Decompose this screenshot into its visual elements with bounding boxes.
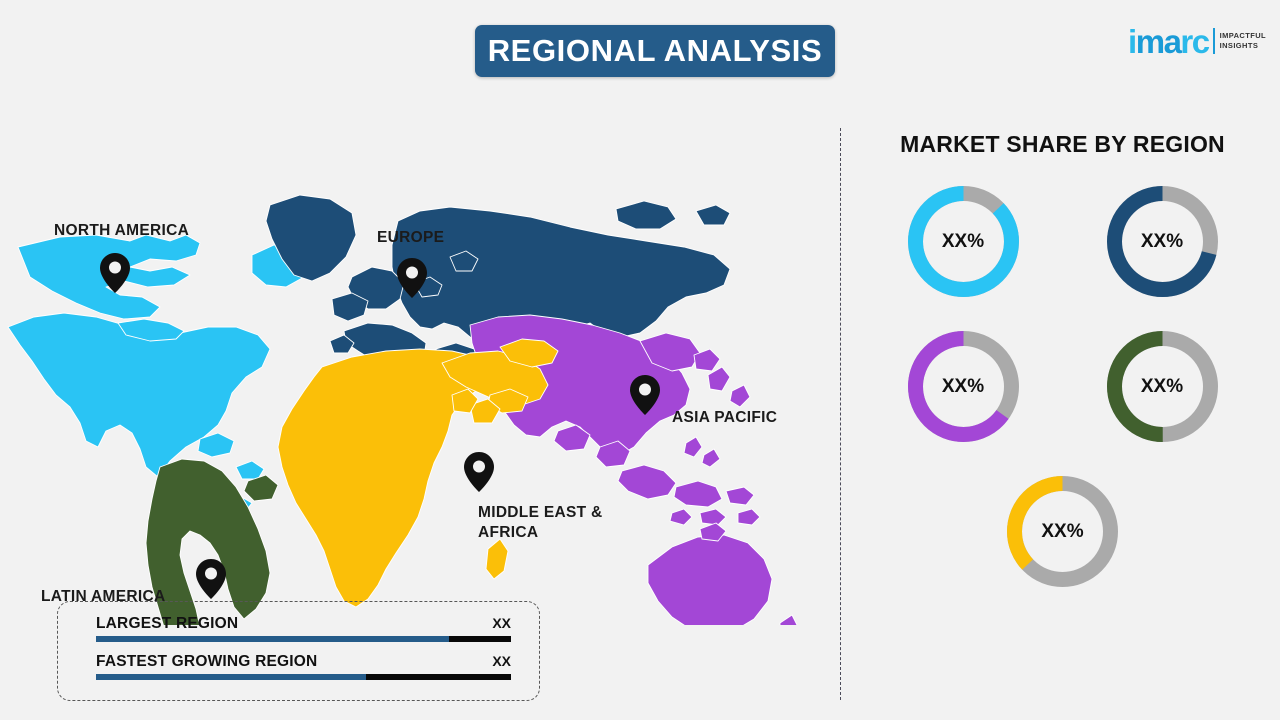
logo-letter-m: m [1136,23,1164,60]
donut-value-label: XX% [900,323,1027,450]
logo-letter-i: i [1128,23,1136,60]
panel-divider [840,128,841,700]
legend-bar-largest-region [96,636,511,642]
map-pin-asia-pacific-icon[interactable] [630,375,660,420]
donut-value-label: XX% [999,468,1126,595]
donut-chart-latin-america: XX% [1099,323,1226,450]
region-label-north-america: NORTH AMERICA [54,221,189,241]
map-region-mea [278,339,558,607]
logo-tagline-line2: INSIGHTS [1220,41,1266,51]
page-title: REGIONAL ANALYSIS [488,33,823,69]
market-share-panel: MARKET SHARE BY REGION XX%XX%XX%XX%XX% [855,125,1270,700]
logo-letter-r: r [1180,23,1191,60]
logo-divider [1213,28,1215,54]
legend-label-largest-region: LARGEST REGION [96,615,238,633]
logo-wordmark: imarc [1128,25,1209,58]
donut-value-label: XX% [1099,323,1226,450]
region-summary-box: LARGEST REGION XX FASTEST GROWING REGION… [57,601,540,701]
legend-bar-fastest-growing-region [96,674,511,680]
logo-tagline-line1: IMPACTFUL [1220,31,1266,41]
donut-value-label: XX% [900,178,1027,305]
legend-label-fastest-growing-region: FASTEST GROWING REGION [96,653,317,671]
legend-bar-fill-fastest-growing-region [96,674,366,680]
donut-chart-grid: XX%XX%XX%XX%XX% [855,178,1270,595]
donut-chart-asia-pacific: XX% [900,323,1027,450]
region-label-middle-east-africa: MIDDLE EAST & AFRICA [478,503,602,543]
chart-title: MARKET SHARE BY REGION [855,131,1270,158]
donut-chart-middle-east-africa: XX% [999,468,1126,595]
imarc-logo: imarc IMPACTFUL INSIGHTS [1128,22,1266,60]
world-map-graphic [0,95,830,625]
logo-letter-a: a [1164,23,1181,60]
legend-row-largest-region: LARGEST REGION XX [96,615,511,642]
legend-value-largest-region: XX [492,615,511,631]
logo-tagline: IMPACTFUL INSIGHTS [1220,31,1266,51]
map-pin-latin-america-icon[interactable] [196,559,226,604]
legend-row-fastest-growing-region: FASTEST GROWING REGION XX [96,653,511,680]
map-pin-north-america-icon[interactable] [100,253,130,298]
map-pin-europe-icon[interactable] [397,258,427,303]
page-title-banner: REGIONAL ANALYSIS [475,25,835,77]
region-label-asia-pacific: ASIA PACIFIC [672,408,777,428]
donut-chart-europe: XX% [1099,178,1226,305]
donut-value-label: XX% [1099,178,1226,305]
world-map-panel: NORTH AMERICA EUROPE ASIA PACIFIC MIDDLE… [0,95,830,625]
logo-letter-c: c [1192,23,1209,60]
legend-bar-fill-largest-region [96,636,449,642]
donut-chart-north-america: XX% [900,178,1027,305]
legend-value-fastest-growing-region: XX [492,653,511,669]
region-label-europe: EUROPE [377,228,444,248]
map-pin-middle-east-africa-icon[interactable] [464,452,494,497]
